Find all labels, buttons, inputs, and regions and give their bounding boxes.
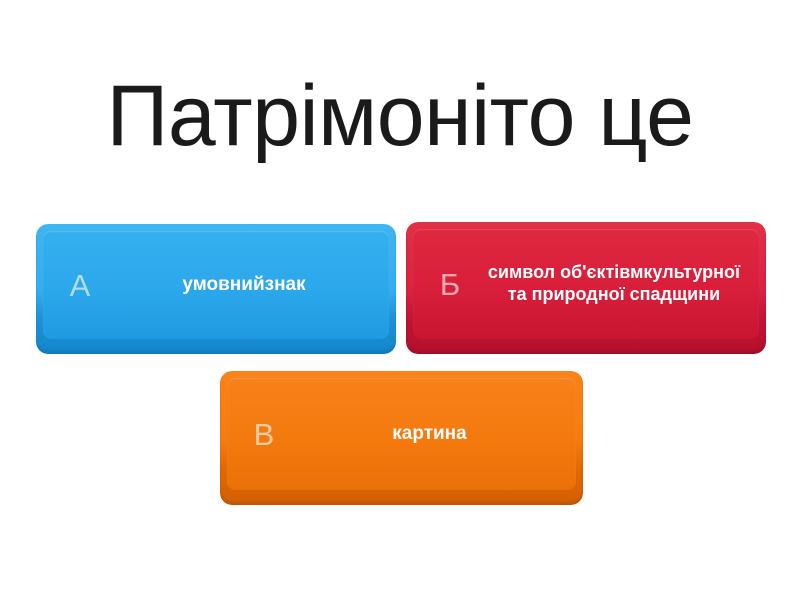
quiz-stage: Патрімоніто це А умовнийзнак Б символ об… (0, 0, 800, 600)
answer-option-c-content: В картина (227, 378, 576, 490)
answer-option-c[interactable]: В картина (220, 371, 583, 505)
answer-option-c-letter: В (227, 419, 301, 450)
answer-option-a[interactable]: А умовнийзнак (36, 224, 396, 354)
answer-option-a-letter: А (43, 270, 117, 301)
answer-option-a-content: А умовнийзнак (43, 231, 389, 339)
answer-option-b-content: Б символ об'єктівмкультурної та природно… (413, 229, 759, 339)
answer-option-a-label: умовнийзнак (117, 273, 389, 296)
answer-option-b[interactable]: Б символ об'єктівмкультурної та природно… (406, 222, 766, 354)
answer-option-c-label: картина (301, 422, 576, 445)
answer-option-b-letter: Б (413, 269, 487, 300)
question-title: Патрімоніто це (0, 66, 800, 166)
answer-option-b-label: символ об'єктівмкультурної та природної … (487, 262, 759, 305)
